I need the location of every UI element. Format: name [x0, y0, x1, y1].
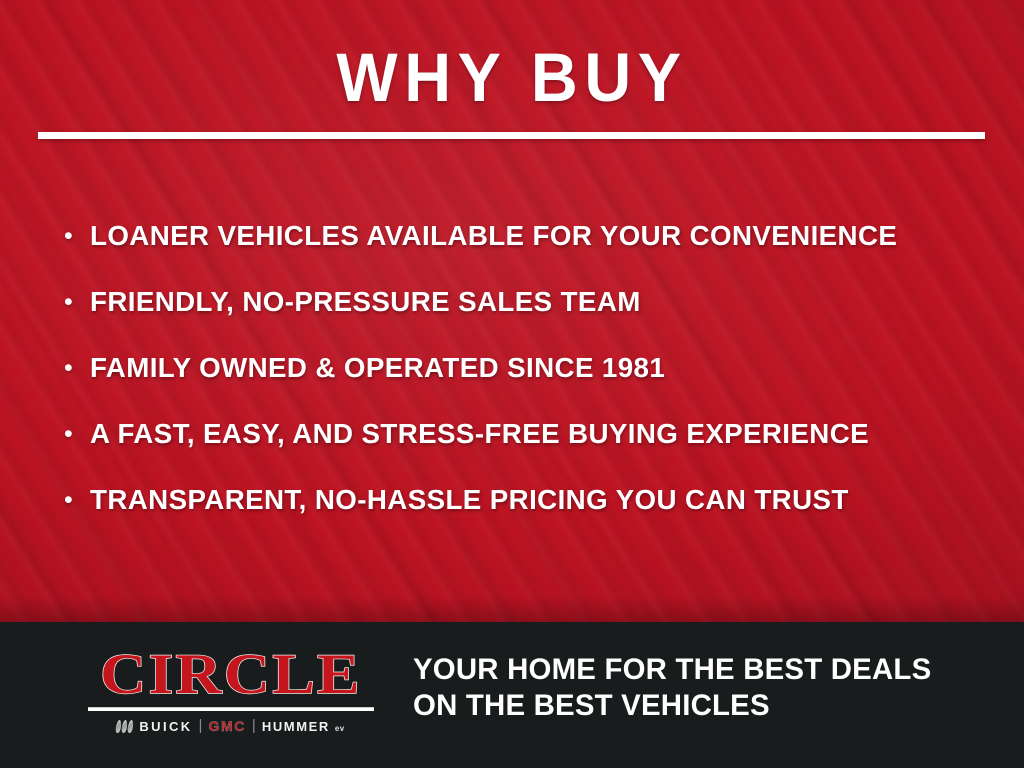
- title-divider-rule: [38, 132, 985, 139]
- brand-label-gmc: GMC: [208, 718, 245, 734]
- list-item-label: FAMILY OWNED & OPERATED SINCE 1981: [90, 352, 995, 384]
- brand-label-ev: ev: [335, 724, 345, 733]
- page-title: WHY BUY: [31, 42, 994, 114]
- brand-separator-icon: |: [199, 719, 203, 733]
- bullet-dot-icon: •: [64, 484, 90, 516]
- why-buy-slide: WHY BUY • LOANER VEHICLES AVAILABLE FOR …: [0, 0, 1024, 768]
- logo-brand-row: BUICK | GMC | HUMMER ev: [88, 717, 374, 735]
- dealership-logo: CIRCLE BUICK | GMC | HUMMER ev: [88, 646, 374, 735]
- benefits-list: • LOANER VEHICLES AVAILABLE FOR YOUR CON…: [64, 220, 1004, 550]
- buick-trishield-icon: [116, 720, 133, 733]
- bullet-dot-icon: •: [64, 286, 90, 318]
- list-item: • A FAST, EASY, AND STRESS-FREE BUYING E…: [64, 418, 1004, 484]
- list-item: • TRANSPARENT, NO-HASSLE PRICING YOU CAN…: [64, 484, 1004, 550]
- list-item-label: A FAST, EASY, AND STRESS-FREE BUYING EXP…: [90, 418, 995, 450]
- brand-separator-icon: |: [252, 719, 256, 733]
- bullet-dot-icon: •: [64, 352, 90, 384]
- footer-tagline-line2: ON THE BEST VEHICLES: [413, 688, 931, 724]
- logo-wordmark: CIRCLE: [71, 646, 391, 704]
- list-item-label: FRIENDLY, NO-PRESSURE SALES TEAM: [90, 286, 995, 318]
- list-item: • FAMILY OWNED & OPERATED SINCE 1981: [64, 352, 1004, 418]
- brand-label-buick: BUICK: [139, 719, 192, 734]
- brand-label-hummer: HUMMER: [262, 719, 330, 734]
- background-bottom-shadow: [0, 596, 1024, 622]
- list-item-label: TRANSPARENT, NO-HASSLE PRICING YOU CAN T…: [90, 484, 995, 516]
- bullet-dot-icon: •: [64, 220, 90, 252]
- footer-tagline: YOUR HOME FOR THE BEST DEALS ON THE BEST…: [413, 652, 931, 724]
- logo-underline-rule: [88, 707, 374, 711]
- bullet-dot-icon: •: [64, 418, 90, 450]
- list-item-label: LOANER VEHICLES AVAILABLE FOR YOUR CONVE…: [90, 220, 995, 252]
- list-item: • FRIENDLY, NO-PRESSURE SALES TEAM: [64, 286, 1004, 352]
- footer-tagline-line1: YOUR HOME FOR THE BEST DEALS: [413, 652, 931, 688]
- list-item: • LOANER VEHICLES AVAILABLE FOR YOUR CON…: [64, 220, 1004, 286]
